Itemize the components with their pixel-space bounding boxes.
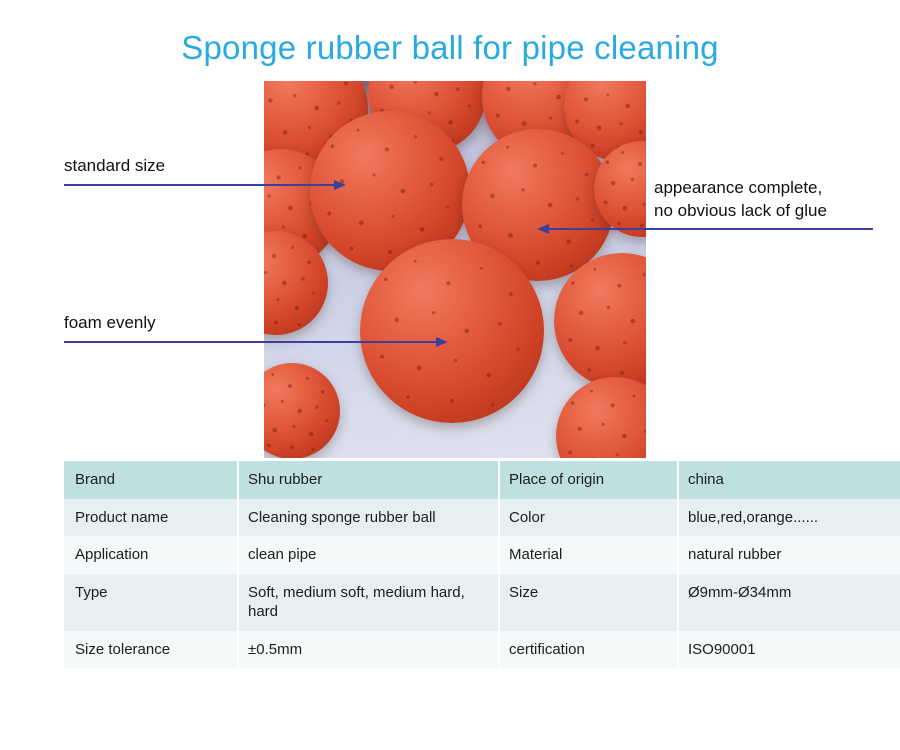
spec-value: Ø9mm-Ø34mm bbox=[677, 574, 900, 631]
spec-key: Application bbox=[64, 536, 237, 574]
spec-key: Place of origin bbox=[498, 461, 677, 499]
spec-value: Shu rubber bbox=[237, 461, 498, 499]
spec-key: Size tolerance bbox=[64, 631, 237, 669]
product-photo bbox=[264, 81, 646, 458]
spec-value: natural rubber bbox=[677, 536, 900, 574]
spec-key: Color bbox=[498, 499, 677, 537]
spec-key: Brand bbox=[64, 461, 237, 499]
spec-table-body: Brand Shu rubber Place of origin china P… bbox=[64, 461, 900, 668]
spec-key: Type bbox=[64, 574, 237, 631]
sponge-ball bbox=[360, 239, 544, 423]
spec-key: Product name bbox=[64, 499, 237, 537]
table-row: Type Soft, medium soft, medium hard, har… bbox=[64, 574, 900, 631]
table-row: Size tolerance ±0.5mm certification ISO9… bbox=[64, 631, 900, 669]
spec-value: Soft, medium soft, medium hard, hard bbox=[237, 574, 498, 631]
spec-value: Cleaning sponge rubber ball bbox=[237, 499, 498, 537]
callout-arrow-line-standard-size bbox=[64, 184, 336, 186]
spec-key: Size bbox=[498, 574, 677, 631]
arrow-right-icon bbox=[334, 180, 346, 190]
callout-label-appearance: appearance complete, no obvious lack of … bbox=[654, 177, 827, 222]
product-spec-table: Brand Shu rubber Place of origin china P… bbox=[64, 461, 900, 668]
arrow-right-icon bbox=[436, 337, 448, 347]
table-row: Brand Shu rubber Place of origin china bbox=[64, 461, 900, 499]
spec-value: clean pipe bbox=[237, 536, 498, 574]
arrow-left-icon bbox=[537, 224, 549, 234]
spec-value: ±0.5mm bbox=[237, 631, 498, 669]
callout-arrow-line-foam-evenly bbox=[64, 341, 438, 343]
callout-label-foam-evenly: foam evenly bbox=[64, 312, 156, 335]
callout-arrow-line-appearance bbox=[549, 228, 873, 230]
page-title: Sponge rubber ball for pipe cleaning bbox=[0, 28, 900, 68]
spec-value: ISO90001 bbox=[677, 631, 900, 669]
spec-value: china bbox=[677, 461, 900, 499]
spec-key: Material bbox=[498, 536, 677, 574]
spec-key: certification bbox=[498, 631, 677, 669]
spec-value: blue,red,orange...... bbox=[677, 499, 900, 537]
table-row: Application clean pipe Material natural … bbox=[64, 536, 900, 574]
callout-label-standard-size: standard size bbox=[64, 155, 165, 178]
table-row: Product name Cleaning sponge rubber ball… bbox=[64, 499, 900, 537]
